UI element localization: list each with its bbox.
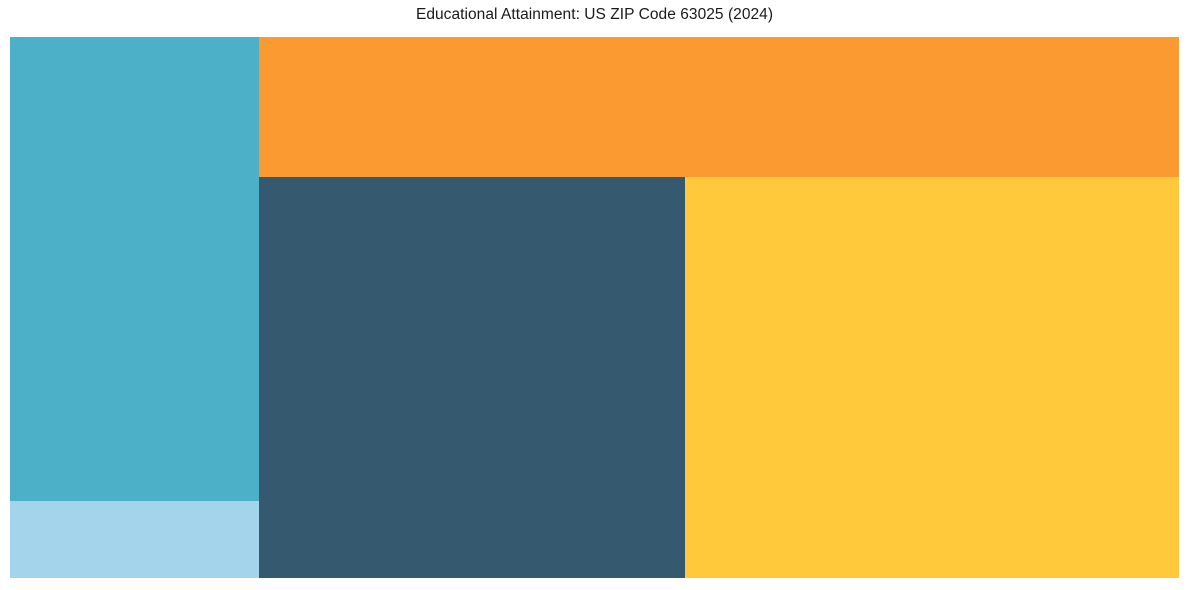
treemap-tile[interactable]: Bachelor's Degree xyxy=(685,177,1179,578)
chart-title: Educational Attainment: US ZIP Code 6302… xyxy=(0,0,1189,37)
treemap-tile[interactable]: Graduate or Professional Degree xyxy=(259,37,1179,177)
treemap-tile[interactable]: High School Graduate xyxy=(259,177,685,578)
treemap-tile[interactable]: Some College or Associate Degree xyxy=(10,37,259,501)
treemap-tile[interactable]: Less than High School xyxy=(10,501,259,578)
treemap-plot-area: Some College or Associate DegreeLess tha… xyxy=(10,37,1179,578)
treemap-figure: Educational Attainment: US ZIP Code 6302… xyxy=(0,0,1189,590)
